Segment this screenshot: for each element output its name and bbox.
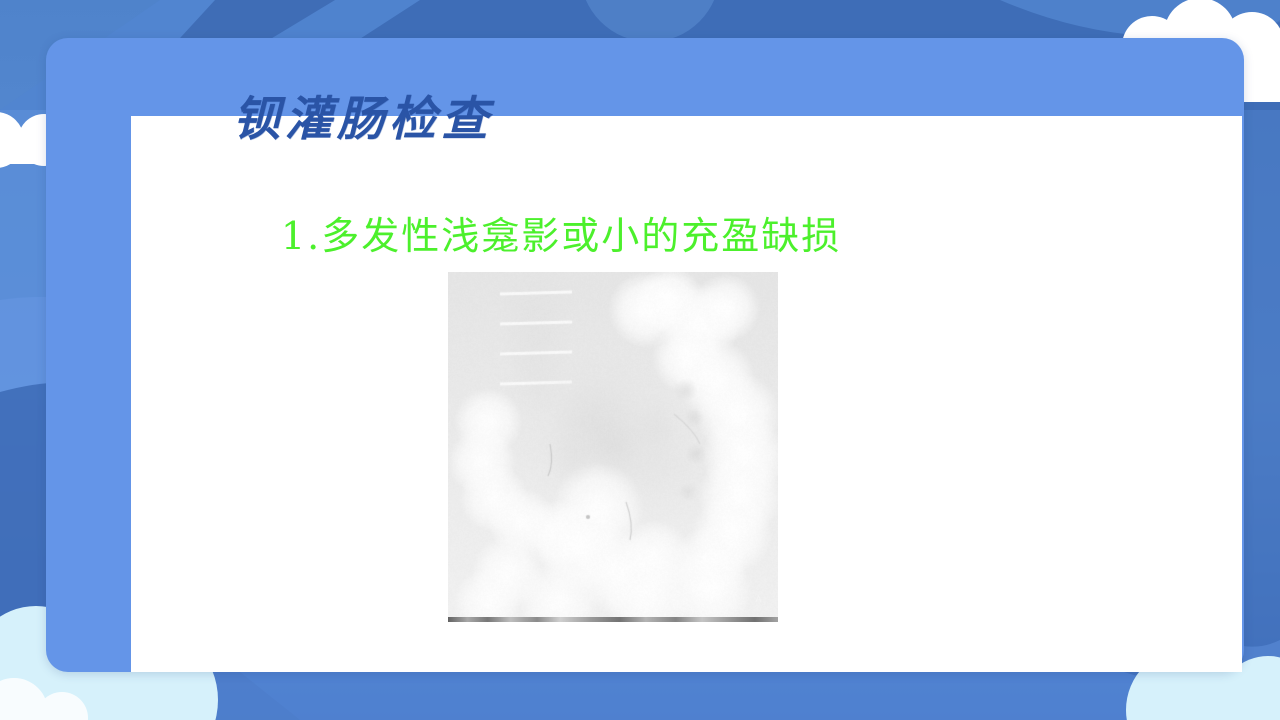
barium-enema-radiograph-image: A — [448, 272, 778, 622]
bullet-text-item-1: 1.多发性浅龛影或小的充盈缺损 — [281, 214, 841, 260]
radiograph-canvas — [448, 272, 778, 622]
radiograph-footer-strip — [448, 617, 778, 622]
radiograph-corner-marker: A — [755, 594, 762, 604]
page-title: 钡灌肠检查 — [233, 92, 493, 147]
slide-canvas: 钡灌肠检查 1.多发性浅龛影或小的充盈缺损 A — [0, 0, 1280, 720]
